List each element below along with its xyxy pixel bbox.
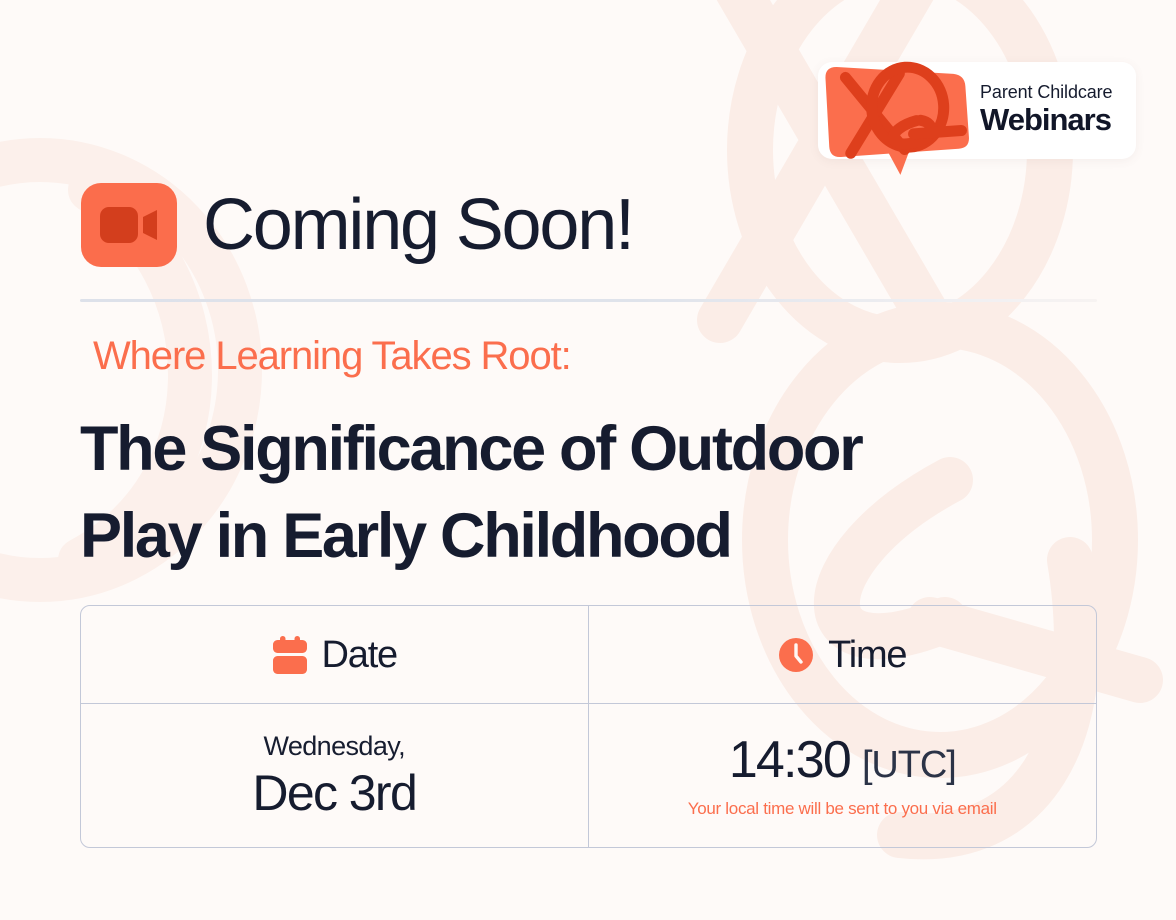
date-weekday: Wednesday, bbox=[263, 733, 405, 760]
date-value-cell: Wednesday, Dec 3rd bbox=[81, 704, 589, 847]
webinar-title: The Significance of Outdoor Play in Earl… bbox=[80, 406, 1080, 580]
parent-childcare-webinars-logo-mark bbox=[816, 56, 976, 178]
time-header-cell: Time bbox=[589, 606, 1097, 703]
webinar-announcement-page: Parent Childcare Webinars Coming Soon! W… bbox=[0, 0, 1176, 920]
time-main: 14:30 [UTC] bbox=[729, 734, 956, 786]
brand-logo-badge: Parent Childcare Webinars bbox=[818, 62, 1136, 159]
webinar-title-line2: Play in Early Childhood bbox=[80, 493, 1080, 580]
date-header-cell: Date bbox=[81, 606, 589, 703]
coming-soon-title: Coming Soon! bbox=[203, 189, 633, 261]
video-camera-icon bbox=[81, 183, 177, 267]
webinar-eyebrow: Where Learning Takes Root: bbox=[93, 336, 571, 376]
time-zone: [UTC] bbox=[862, 746, 956, 784]
webinar-title-line1: The Significance of Outdoor bbox=[80, 406, 1080, 493]
info-card-value-row: Wednesday, Dec 3rd 14:30 [UTC] Your loca… bbox=[81, 704, 1096, 847]
date-header: Date bbox=[272, 636, 397, 674]
video-camera-glyph bbox=[100, 207, 158, 243]
time-value-cell: 14:30 [UTC] Your local time will be sent… bbox=[589, 704, 1097, 847]
date-header-label: Date bbox=[322, 636, 397, 674]
logo-wordmark-line2: Webinars bbox=[980, 104, 1112, 135]
time-header: Time bbox=[778, 636, 906, 674]
clock-icon bbox=[778, 637, 814, 673]
section-divider bbox=[80, 299, 1097, 302]
logo-wordmark-line1: Parent Childcare bbox=[980, 83, 1112, 101]
info-card-header-row: Date Time bbox=[81, 606, 1096, 704]
webinar-info-card: Date Time Wednesday, Dec 3rd bbox=[80, 605, 1097, 848]
calendar-icon bbox=[272, 636, 308, 674]
time-value: 14:30 bbox=[729, 734, 850, 786]
logo-wordmark: Parent Childcare Webinars bbox=[980, 83, 1112, 135]
coming-soon-row: Coming Soon! bbox=[81, 183, 633, 267]
time-header-label: Time bbox=[828, 636, 906, 674]
time-local-note: Your local time will be sent to you via … bbox=[688, 800, 997, 817]
date-day: Dec 3rd bbox=[252, 768, 416, 818]
